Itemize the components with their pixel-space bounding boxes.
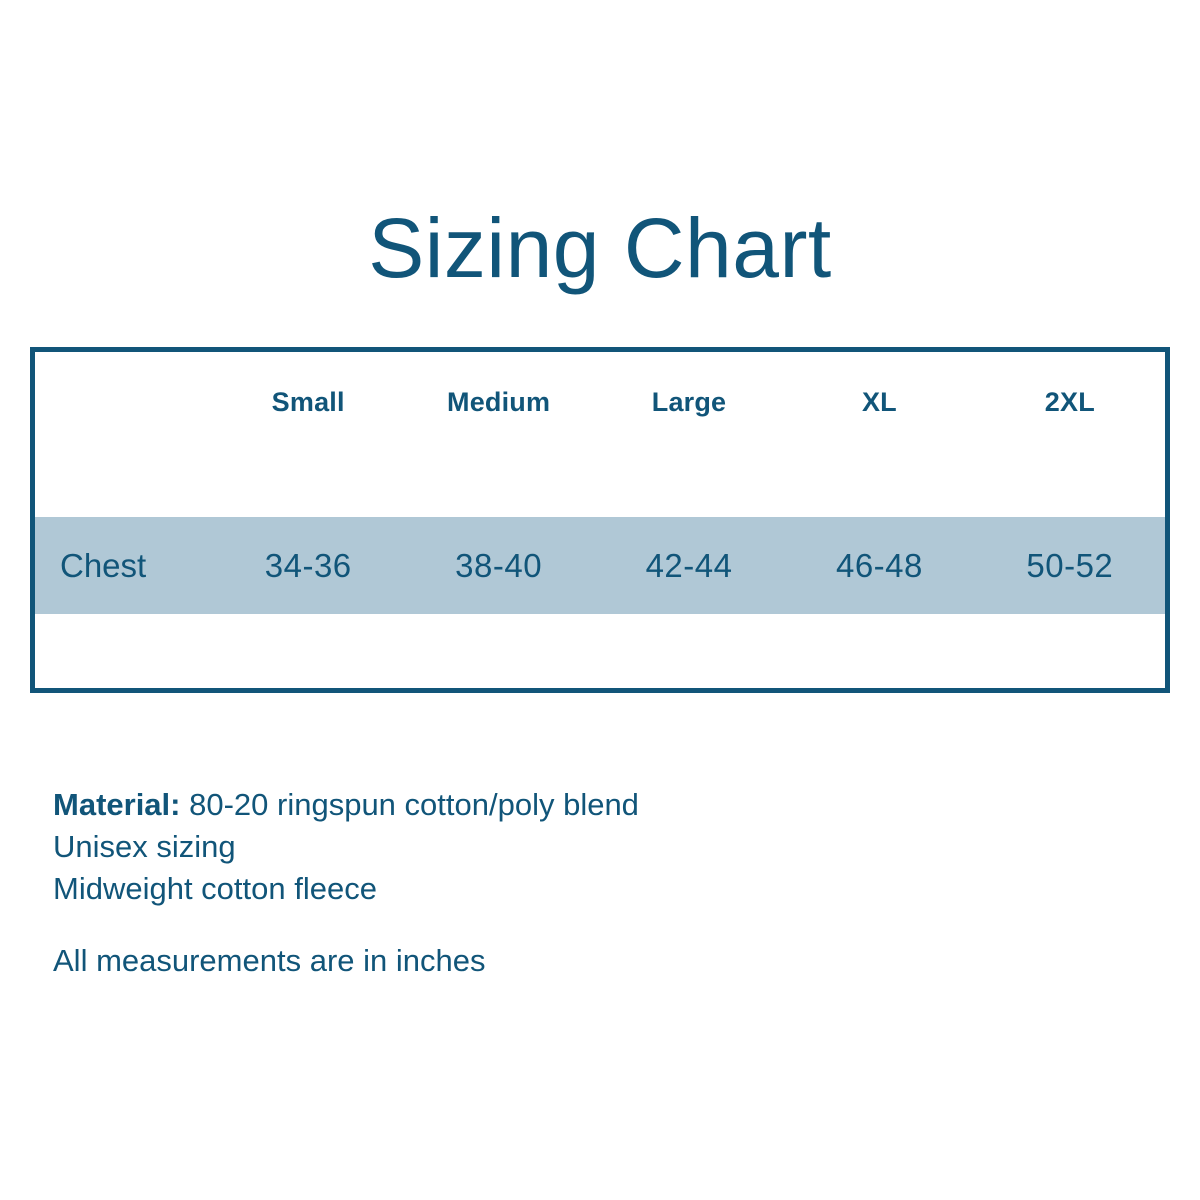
sizing-table: Small Medium Large XL 2XL Chest 34-36 38… [30, 347, 1170, 693]
table-bottom-row [35, 614, 1165, 688]
cell-chest-small: 34-36 [213, 547, 403, 585]
column-header-small: Small [213, 387, 403, 418]
note-material-label: Material: [53, 787, 180, 822]
column-header-large: Large [594, 387, 784, 418]
cell-chest-medium: 38-40 [403, 547, 593, 585]
table-row: Chest 34-36 38-40 42-44 46-48 50-52 [35, 517, 1165, 614]
notes-block: Material: 80-20 ringspun cotton/poly ble… [53, 784, 1053, 910]
sizing-table-body: Small Medium Large XL 2XL Chest 34-36 38… [35, 352, 1165, 688]
cell-chest-xl: 46-48 [784, 547, 974, 585]
row-label-chest: Chest [35, 547, 213, 585]
note-material: Material: 80-20 ringspun cotton/poly ble… [53, 784, 1053, 826]
sizing-chart-page: Sizing Chart Small Medium Large XL 2XL C… [0, 0, 1200, 1200]
note-fabric-weight: Midweight cotton fleece [53, 868, 1053, 910]
page-title: Sizing Chart [0, 206, 1200, 290]
column-header-medium: Medium [403, 387, 593, 418]
cell-chest-large: 42-44 [594, 547, 784, 585]
column-header-xl: XL [784, 387, 974, 418]
note-material-value: 80-20 ringspun cotton/poly blend [189, 787, 639, 822]
table-spacer-row [35, 432, 1165, 517]
column-header-2xl: 2XL [975, 387, 1165, 418]
note-unisex: Unisex sizing [53, 826, 1053, 868]
note-measurement-units: All measurements are in inches [53, 940, 485, 982]
cell-chest-2xl: 50-52 [975, 547, 1165, 585]
table-header-row: Small Medium Large XL 2XL [35, 352, 1165, 432]
